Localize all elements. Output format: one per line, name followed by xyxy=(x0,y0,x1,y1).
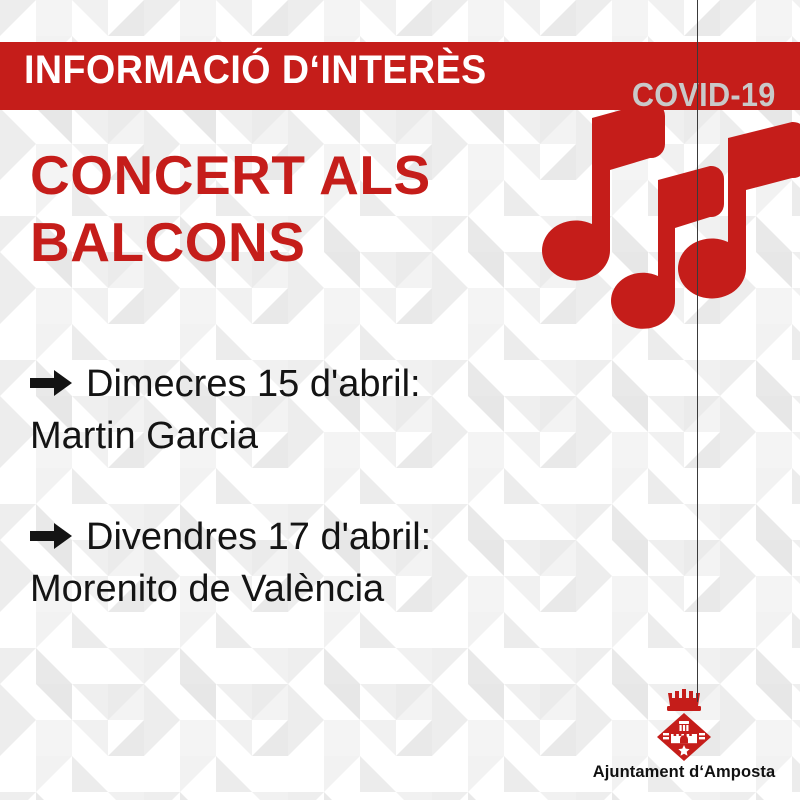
page-title: CONCERT ALS BALCONS xyxy=(30,142,550,276)
three-eighth-notes-icon xyxy=(530,100,800,370)
arrow-right-icon xyxy=(30,518,72,556)
vertical-guide-line xyxy=(697,0,698,702)
page-title-line-1: CONCERT ALS xyxy=(30,142,550,209)
amposta-coat-of-arms-icon xyxy=(649,687,719,761)
list-item: Dimecres 15 d'abril: Martin Garcia xyxy=(30,358,590,463)
poster-canvas: INFORMACIÓ D‘INTERÈS COVID-19 CONCERT AL… xyxy=(0,0,800,800)
covid-tag-label: COVID-19 xyxy=(632,76,776,114)
logo-label: Ajuntament d‘Amposta xyxy=(584,763,784,782)
page-title-line-2: BALCONS xyxy=(30,209,550,276)
schedule-date-label: Dimecres 15 d'abril: xyxy=(86,358,421,410)
schedule-date-row: Divendres 17 d'abril: xyxy=(30,511,590,563)
schedule-date-row: Dimecres 15 d'abril: xyxy=(30,358,590,410)
banner-title: INFORMACIÓ D‘INTERÈS xyxy=(24,48,487,93)
logo: Ajuntament d‘Amposta xyxy=(584,687,784,782)
arrow-right-icon xyxy=(30,365,72,403)
concert-schedule-list: Dimecres 15 d'abril: Martin Garcia Diven… xyxy=(30,358,590,616)
schedule-performer-label: Martin Garcia xyxy=(30,410,590,462)
schedule-performer-label: Morenito de València xyxy=(30,563,590,615)
schedule-date-label: Divendres 17 d'abril: xyxy=(86,511,431,563)
list-item: Divendres 17 d'abril: Morenito de Valènc… xyxy=(30,511,590,616)
